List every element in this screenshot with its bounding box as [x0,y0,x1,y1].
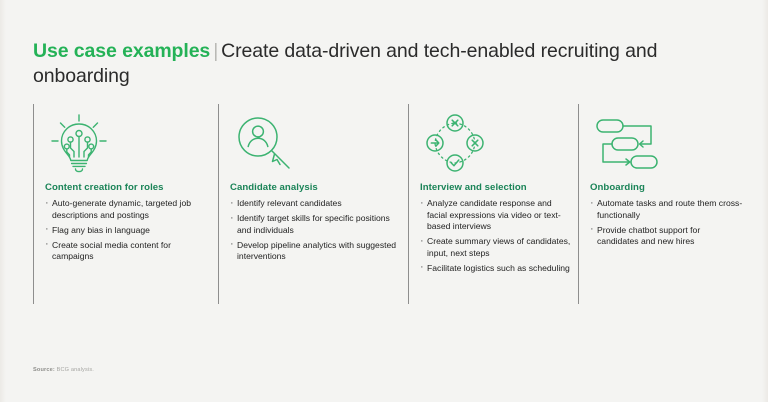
list-item: Identify target skills for specific posi… [230,213,401,236]
use-case-column-interview-selection: Interview and selection Analyze candidat… [408,104,573,304]
source-label: Source: [33,367,55,373]
list-item: Flag any bias in language [45,225,211,237]
list-item: Identify relevant candidates [230,198,401,210]
lightbulb-circuit-icon [45,104,211,182]
source-note: Source: BCG analysis. [33,367,94,373]
list-item: Provide chatbot support for candidates a… [590,225,743,248]
column-bullet-list: Identify relevant candidates Identify ta… [230,198,401,263]
use-case-column-content-creation: Content creation for roles Auto-generate… [33,104,211,304]
workflow-routing-icon [590,104,743,182]
person-magnifier-icon [230,104,401,182]
use-case-columns: Content creation for roles Auto-generate… [0,104,768,304]
column-heading: Interview and selection [420,182,573,193]
use-case-column-candidate-analysis: Candidate analysis Identify relevant can… [218,104,401,304]
column-bullet-list: Analyze candidate response and facial ex… [420,198,573,275]
column-heading: Candidate analysis [230,182,401,193]
list-item: Develop pipeline analytics with suggeste… [230,240,401,263]
source-text: BCG analysis. [57,367,94,373]
column-bullet-list: Auto-generate dynamic, targeted job desc… [45,198,211,263]
use-case-column-onboarding: Onboarding Automate tasks and route them… [578,104,743,304]
column-heading: Onboarding [590,182,743,193]
page-title-separator: | [210,40,221,62]
page-title-accent: Use case examples [33,40,210,62]
list-item: Auto-generate dynamic, targeted job desc… [45,198,211,221]
list-item: Automate tasks and route them cross-func… [590,198,743,221]
column-heading: Content creation for roles [45,182,211,193]
list-item: Create social media content for campaign… [45,240,211,263]
selection-diamond-icon [420,104,573,182]
list-item: Create summary views of candidates, inpu… [420,236,573,259]
list-item: Facilitate logistics such as scheduling [420,263,573,275]
page-title: Use case examples|Create data-driven and… [33,39,673,89]
list-item: Analyze candidate response and facial ex… [420,198,573,233]
column-bullet-list: Automate tasks and route them cross-func… [590,198,743,248]
